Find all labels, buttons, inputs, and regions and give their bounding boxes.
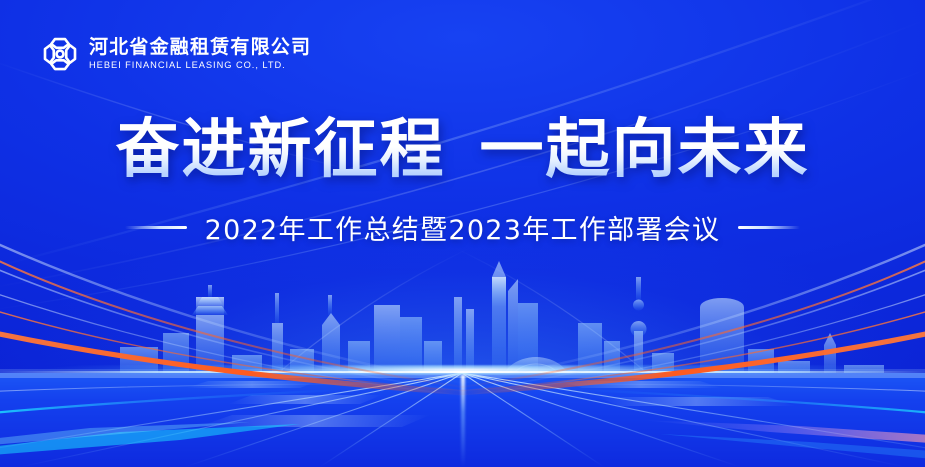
logo-company-name-cn: 河北省金融租赁有限公司 — [89, 38, 311, 57]
horizontal-rule-icon — [125, 226, 187, 229]
subtitle-row: 2022年工作总结暨2023年工作部署会议 — [0, 208, 925, 247]
page-title: 奋进新征程一起向未来 — [0, 113, 925, 187]
page-subtitle: 2022年工作总结暨2023年工作部署会议 — [205, 208, 721, 247]
conference-banner: 河北省金融租赁有限公司 HEBEI FINANCIAL LEASING CO.,… — [0, 0, 925, 467]
logo-company-name-en: HEBEI FINANCIAL LEASING CO., LTD. — [89, 61, 311, 70]
city-skyline-silhouette — [0, 237, 925, 387]
horizon-rule — [0, 371, 925, 373]
interlocking-knot-logo-icon — [40, 34, 80, 74]
headline-part-2: 一起向未来 — [480, 113, 810, 187]
center-light-beam — [461, 375, 465, 467]
horizontal-rule-icon — [738, 226, 800, 229]
company-logo: 河北省金融租赁有限公司 HEBEI FINANCIAL LEASING CO.,… — [40, 34, 311, 74]
perspective-ground-plane — [0, 373, 925, 467]
headline-part-1: 奋进新征程 — [116, 113, 446, 187]
horizon-glow-line — [0, 365, 925, 375]
